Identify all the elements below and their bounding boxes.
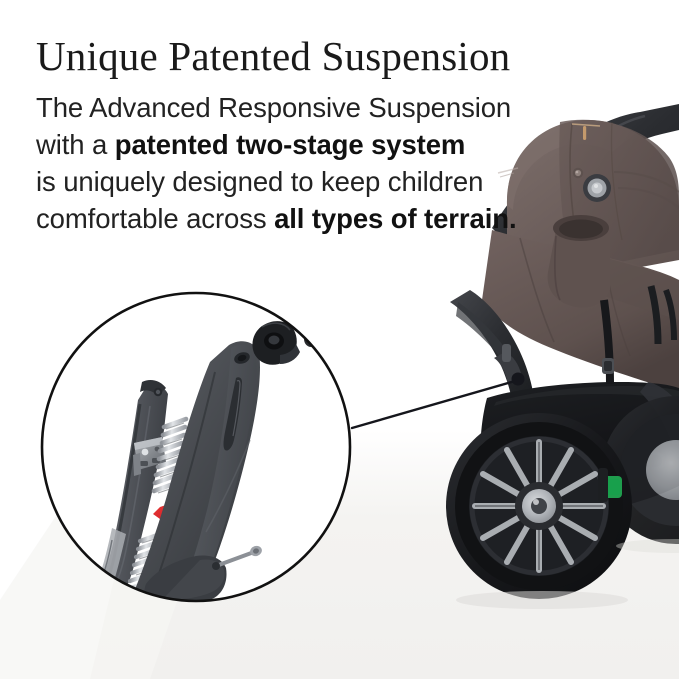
infographic-canvas: Unique Patented Suspension The Advanced … bbox=[0, 0, 679, 679]
axle-bolt bbox=[327, 312, 384, 340]
body-emphasis-1: patented two-stage system bbox=[115, 129, 466, 160]
body-line-3: is uniquely designed to keep children bbox=[36, 163, 506, 200]
body-emphasis-2: all types of terrain. bbox=[274, 203, 516, 234]
body-line-2: with a patented two-stage system bbox=[36, 126, 506, 163]
body-line-4: comfortable across all types of terrain. bbox=[36, 200, 506, 237]
page-title: Unique Patented Suspension bbox=[36, 32, 636, 80]
body-copy: The Advanced Responsive Suspension with … bbox=[36, 89, 506, 237]
body-line-1: The Advanced Responsive Suspension bbox=[36, 89, 506, 126]
